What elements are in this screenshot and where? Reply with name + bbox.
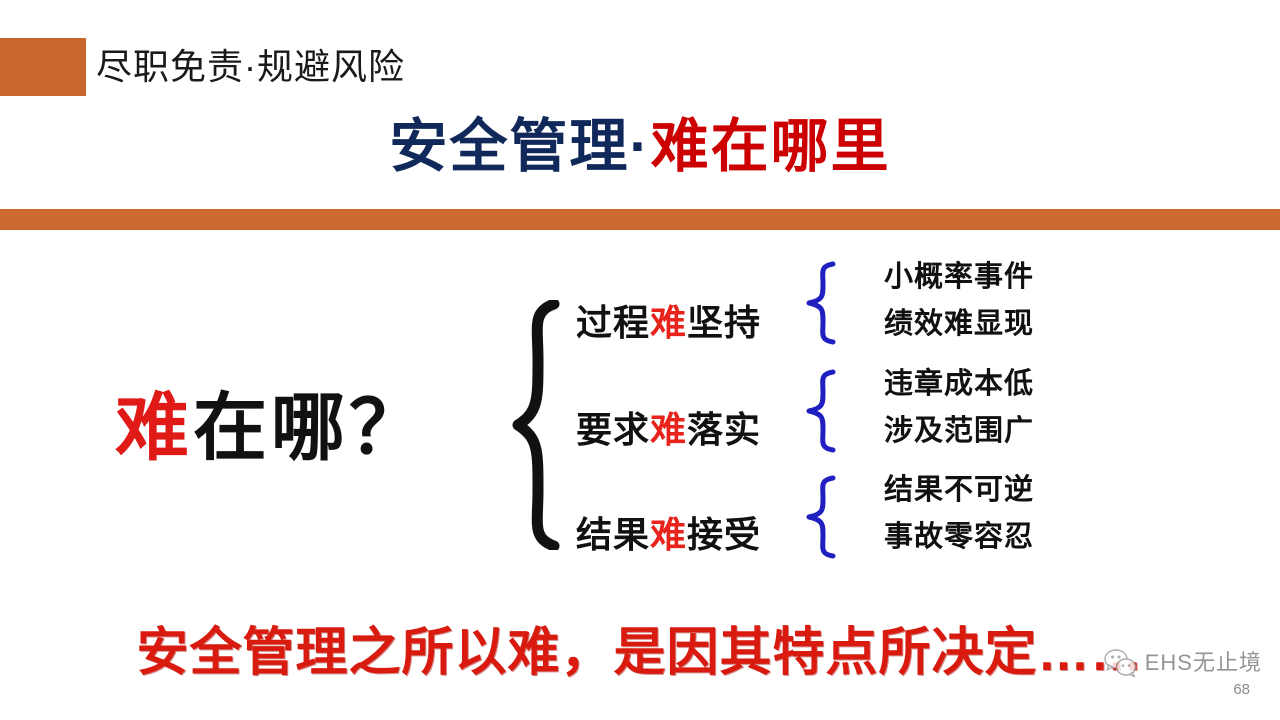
detail-group-1: 小概率事件 绩效难显现	[884, 254, 1034, 348]
slide-canvas: 尽职免责·规避风险 安全管理·难在哪里 难在哪？ 过程难坚持 要求难落实 结果难…	[0, 0, 1280, 720]
question-headline: 难在哪？	[115, 382, 427, 474]
diagram-figure: 难在哪？ 过程难坚持 要求难落实 结果难接受 小概率事件 绩效难显现	[0, 240, 1280, 720]
question-headline-accent: 难	[115, 386, 193, 469]
detail-item: 涉及范围广	[884, 408, 1034, 455]
branch-label-3-pre: 结果	[576, 514, 650, 555]
detail-item: 违章成本低	[884, 361, 1034, 408]
detail-item: 事故零容忍	[884, 514, 1034, 561]
branch-label-3: 结果难接受	[576, 512, 761, 558]
page-title: 安全管理·难在哪里	[0, 110, 1280, 184]
branch-label-2-accent: 难	[650, 409, 687, 450]
page-number: 68	[1233, 681, 1250, 699]
branch-label-1-accent: 难	[650, 302, 687, 343]
detail-group-2: 违章成本低 涉及范围广	[884, 361, 1034, 455]
header-accent-block	[0, 38, 86, 96]
brace-small-2-icon	[800, 368, 842, 454]
page-title-accent: 难在哪里	[651, 114, 891, 179]
conclusion-text: 安全管理之所以难，是因其特点所决定……	[0, 618, 1280, 688]
detail-item: 绩效难显现	[884, 301, 1034, 348]
branch-label-1-post: 坚持	[687, 302, 761, 343]
header-divider-bar	[0, 209, 1280, 230]
detail-group-3: 结果不可逆 事故零容忍	[884, 467, 1034, 561]
watermark-label: EHS无止境	[1145, 650, 1262, 676]
watermark: EHS无止境	[1104, 648, 1262, 678]
brace-large-icon	[508, 300, 568, 550]
brace-small-1-icon	[800, 260, 842, 346]
header-kicker: 尽职免责·规避风险	[96, 40, 405, 94]
detail-item: 结果不可逆	[884, 467, 1034, 514]
branch-label-3-accent: 难	[650, 514, 687, 555]
brace-small-3-icon	[800, 474, 842, 560]
branch-label-2: 要求难落实	[576, 407, 761, 453]
question-headline-body: 在哪	[193, 386, 349, 469]
branch-label-1-pre: 过程	[576, 302, 650, 343]
question-mark-glyph: ？	[349, 385, 427, 471]
branch-label-1: 过程难坚持	[576, 300, 761, 346]
wechat-icon	[1104, 648, 1138, 678]
branch-label-2-post: 落实	[687, 409, 761, 450]
branch-label-2-pre: 要求	[576, 409, 650, 450]
branch-label-3-post: 接受	[687, 514, 761, 555]
page-title-primary: 安全管理·	[389, 114, 650, 179]
detail-item: 小概率事件	[884, 254, 1034, 301]
